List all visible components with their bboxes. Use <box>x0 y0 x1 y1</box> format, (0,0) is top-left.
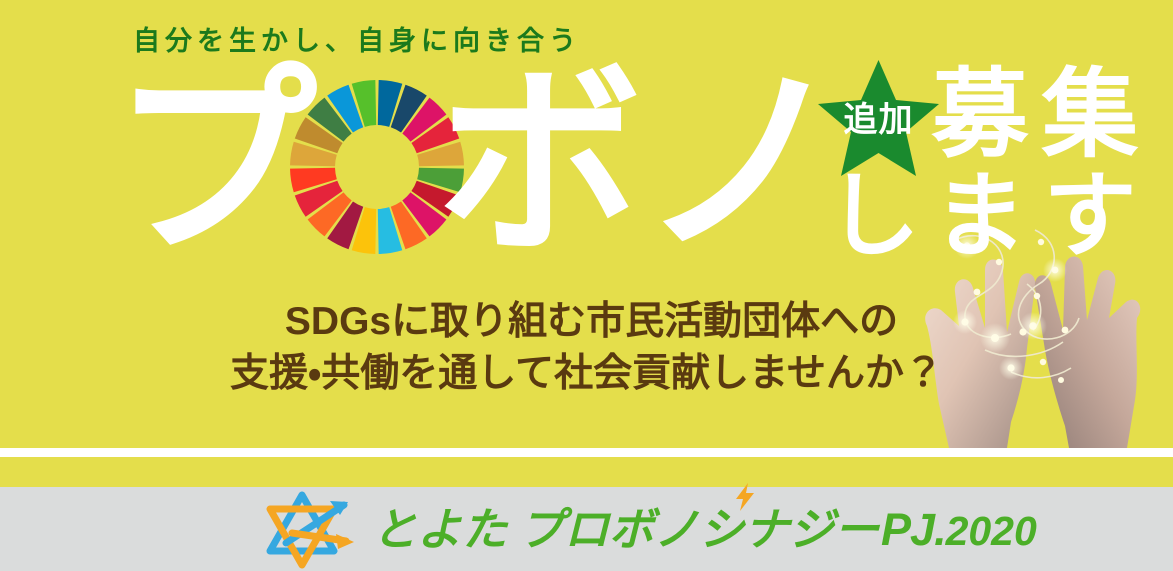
headline-kana-bo: ボ <box>437 62 642 267</box>
recruit-char-bo: 募 <box>925 62 1035 167</box>
subhead-line-1: SDGsに取り組む市民活動団体への <box>0 296 1173 348</box>
logo-brand-probono-text: プロボノシナジー <box>519 503 879 556</box>
background-band-yellow-bottom <box>0 457 1173 487</box>
logo-brand-pj: PJ. <box>881 507 946 552</box>
recruit-char-ma: ま <box>925 166 1035 266</box>
promotional-banner: 自分を生かし、自身に向き合う プ ボ ノ <box>0 0 1173 571</box>
subhead-group: SDGsに取り組む市民活動団体への 支援・共働を通して社会貢献しませんか？ <box>0 296 1173 400</box>
recruit-char-shu: 集 <box>1035 62 1145 167</box>
recruit-row-2: し ま す <box>822 166 1145 266</box>
subhead-line-2: 支援・共働を通して社会貢献しませんか？ <box>0 348 1173 400</box>
footer-logo-text: とよた プロボノシナジー PJ. 2020 <box>372 507 1037 552</box>
separator-stripe-white <box>0 448 1173 457</box>
recruit-char-su: す <box>1035 166 1145 266</box>
headline-kana-pu: プ <box>112 62 317 267</box>
lightning-bolt-icon <box>734 483 756 511</box>
recruit-char-shi: し <box>822 166 925 266</box>
star-arrows-logo-icon <box>262 489 358 569</box>
logo-brand-probono: プロボノシナジー <box>519 507 879 552</box>
logo-brand-year: 2020 <box>946 511 1037 552</box>
footer-logo: とよた プロボノシナジー PJ. 2020 <box>262 487 912 571</box>
logo-brand-toyota: とよた <box>372 507 507 552</box>
headline-kana-no: ノ <box>640 62 845 267</box>
